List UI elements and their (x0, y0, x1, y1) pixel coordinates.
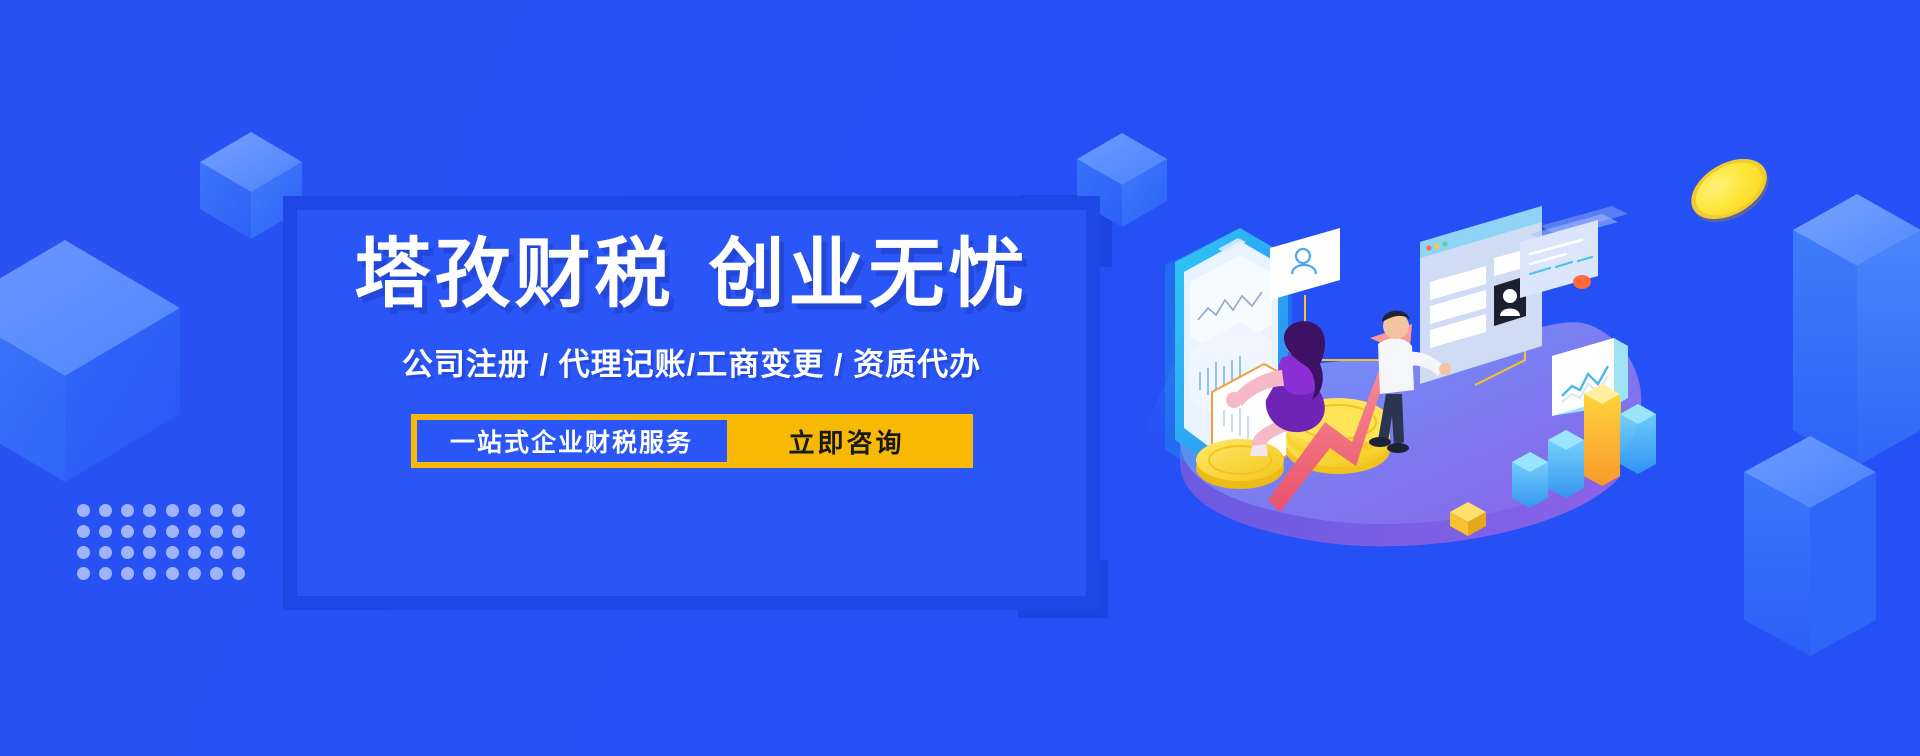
dot (77, 525, 90, 538)
dot (99, 525, 112, 538)
dot (188, 567, 201, 580)
dot (166, 525, 179, 538)
gold-coin-icon-right (1673, 133, 1785, 245)
isometric-business-illustration (1120, 110, 1680, 580)
dot (232, 504, 245, 517)
dot (121, 525, 134, 538)
dot (210, 567, 223, 580)
dot (77, 546, 90, 559)
dot (121, 546, 134, 559)
page-title: 塔孜财税创业无忧 (355, 232, 1029, 317)
cta-bar[interactable]: 一站式企业财税服务 立即咨询 (411, 414, 973, 468)
isometric-slab-icon (1740, 430, 1880, 660)
dot-grid (72, 500, 250, 584)
dot (166, 504, 179, 517)
dot (188, 504, 201, 517)
isometric-cube-left-icon (0, 230, 185, 490)
dot (99, 567, 112, 580)
dot (232, 525, 245, 538)
dot (77, 567, 90, 580)
isometric-tower-icon (1790, 190, 1920, 470)
dot (166, 546, 179, 559)
dot (121, 567, 134, 580)
promo-banner: 塔孜财税创业无忧 公司注册 / 代理记账/工商变更 / 资质代办 一站式企业财税… (0, 0, 1920, 756)
service-list-subtitle: 公司注册 / 代理记账/工商变更 / 资质代办 (402, 339, 981, 384)
dot (232, 546, 245, 559)
headline-part-2: 创业无忧 (709, 232, 1029, 317)
dot (143, 504, 156, 517)
dot (210, 504, 223, 517)
dot (188, 525, 201, 538)
dot (143, 525, 156, 538)
headline-part-1: 塔孜财税 (355, 232, 675, 317)
dot (210, 525, 223, 538)
consult-now-button[interactable]: 立即咨询 (727, 423, 967, 460)
dot (143, 567, 156, 580)
dot (188, 546, 201, 559)
dot (121, 504, 134, 517)
dot (99, 546, 112, 559)
headline-frame: 塔孜财税创业无忧 公司注册 / 代理记账/工商变更 / 资质代办 一站式企业财税… (283, 196, 1100, 610)
dot (210, 546, 223, 559)
dot (99, 504, 112, 517)
cta-tagline-pill: 一站式企业财税服务 (417, 420, 727, 462)
dot (143, 546, 156, 559)
dot (77, 504, 90, 517)
dot (166, 567, 179, 580)
dot (232, 567, 245, 580)
